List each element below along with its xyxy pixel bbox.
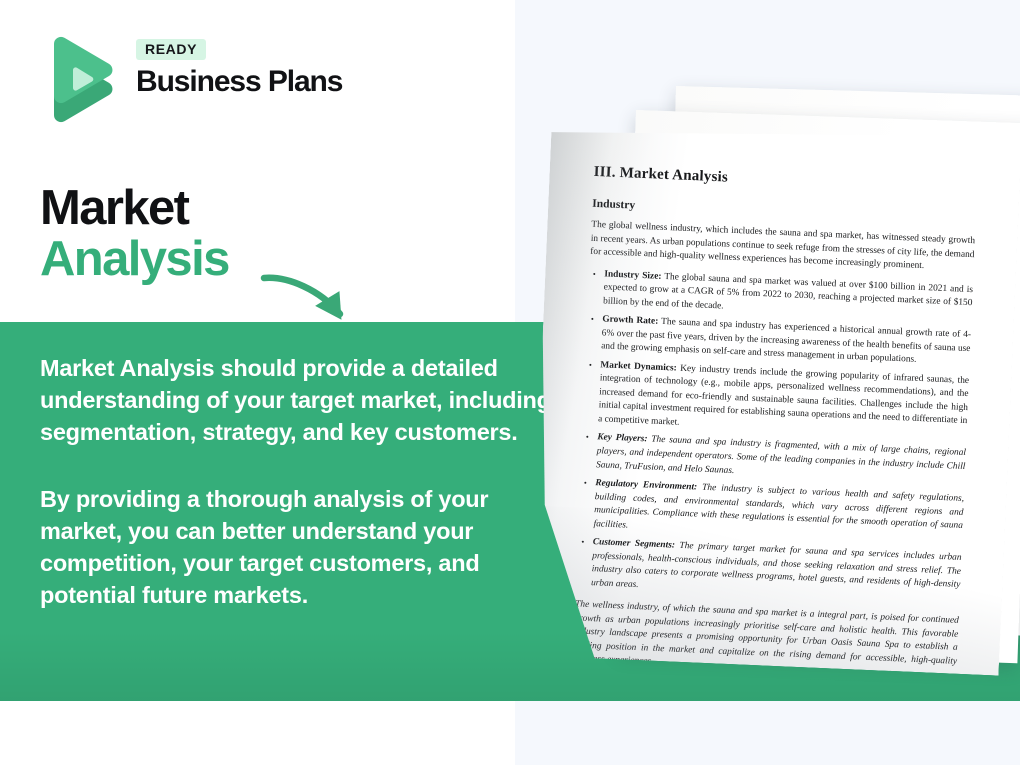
bullet-label: Industry Size: [604, 269, 662, 281]
document-page-front[interactable]: III. Market Analysis Industry The global… [529, 116, 1020, 676]
slide-canvas: READY Business Plans Market Analysis Mar… [0, 0, 1020, 765]
list-item: Regulatory Environment: The industry is … [593, 477, 964, 547]
document-bullet-list: Industry Size: The global sauna and spa … [576, 267, 973, 606]
bullet-label: Customer Segments: [593, 537, 676, 551]
document-intro: The global wellness industry, which incl… [590, 219, 975, 276]
document-closing: The wellness industry, of which the saun… [572, 599, 959, 676]
bullet-label: Growth Rate: [602, 315, 658, 327]
document-stack: III. Market Analysis Industry The global… [0, 0, 1020, 765]
bullet-label: Key Players: [597, 433, 648, 445]
bullet-label: Market Dynamics: [600, 360, 677, 373]
list-item: Customer Segments: The primary target ma… [591, 536, 962, 606]
bullet-text: The sauna and spa industry is fragmented… [596, 435, 966, 476]
document-content: III. Market Analysis Industry The global… [569, 164, 977, 676]
bullet-text: Key industry trends include the growing … [598, 363, 969, 427]
bullet-label: Regulatory Environment: [595, 478, 697, 492]
document-title: III. Market Analysis [593, 164, 977, 197]
list-item: Market Dynamics: Key industry trends inc… [598, 359, 970, 442]
